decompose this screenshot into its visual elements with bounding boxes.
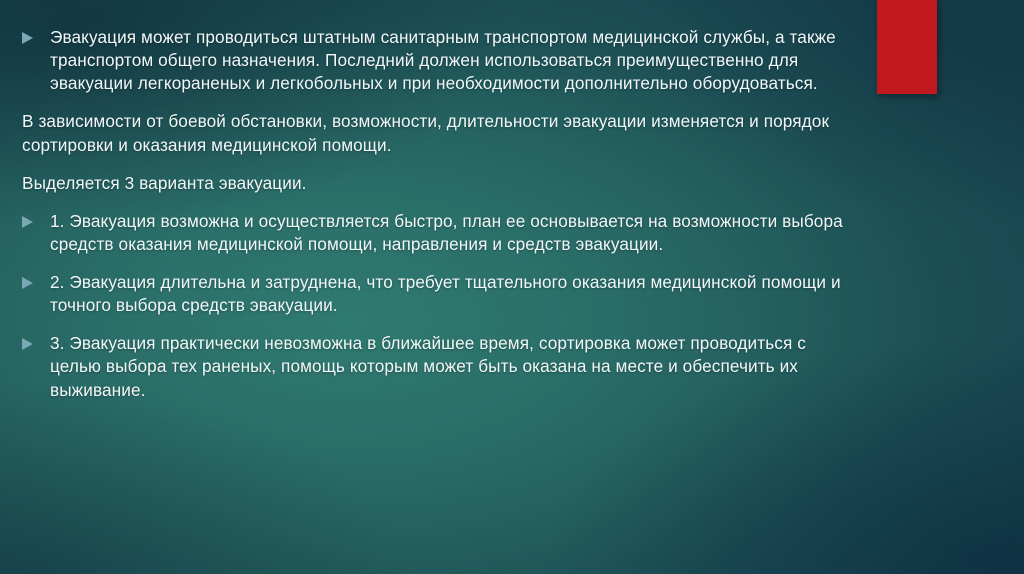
paragraph-text: Выделяется 3 варианта эвакуации.	[22, 172, 860, 195]
red-accent-rectangle	[877, 0, 937, 94]
triangle-right-icon	[22, 216, 33, 228]
paragraph-variants-intro: Выделяется 3 варианта эвакуации.	[0, 172, 860, 195]
paragraph-situation: В зависимости от боевой обстановки, возм…	[0, 110, 860, 156]
bullet-item-variant-3: 3. Эвакуация практически невозможна в бл…	[0, 332, 860, 401]
bullet-item-text: 3. Эвакуация практически невозможна в бл…	[50, 332, 860, 401]
presentation-slide: Эвакуация может проводиться штатным сани…	[0, 0, 1024, 574]
bullet-item-variant-1: 1. Эвакуация возможна и осуществляется б…	[0, 210, 860, 256]
triangle-right-icon	[22, 277, 33, 289]
bullet-item-text: Эвакуация может проводиться штатным сани…	[50, 26, 860, 95]
bullet-item-transport: Эвакуация может проводиться штатным сани…	[0, 26, 860, 95]
triangle-right-icon	[22, 338, 33, 350]
paragraph-text: В зависимости от боевой обстановки, возм…	[22, 110, 860, 156]
bullet-item-text: 2. Эвакуация длительна и затруднена, что…	[50, 271, 860, 317]
bullet-item-variant-2: 2. Эвакуация длительна и затруднена, что…	[0, 271, 860, 317]
slide-content-body: Эвакуация может проводиться штатным сани…	[0, 0, 860, 417]
bullet-item-text: 1. Эвакуация возможна и осуществляется б…	[50, 210, 860, 256]
triangle-right-icon	[22, 32, 33, 44]
